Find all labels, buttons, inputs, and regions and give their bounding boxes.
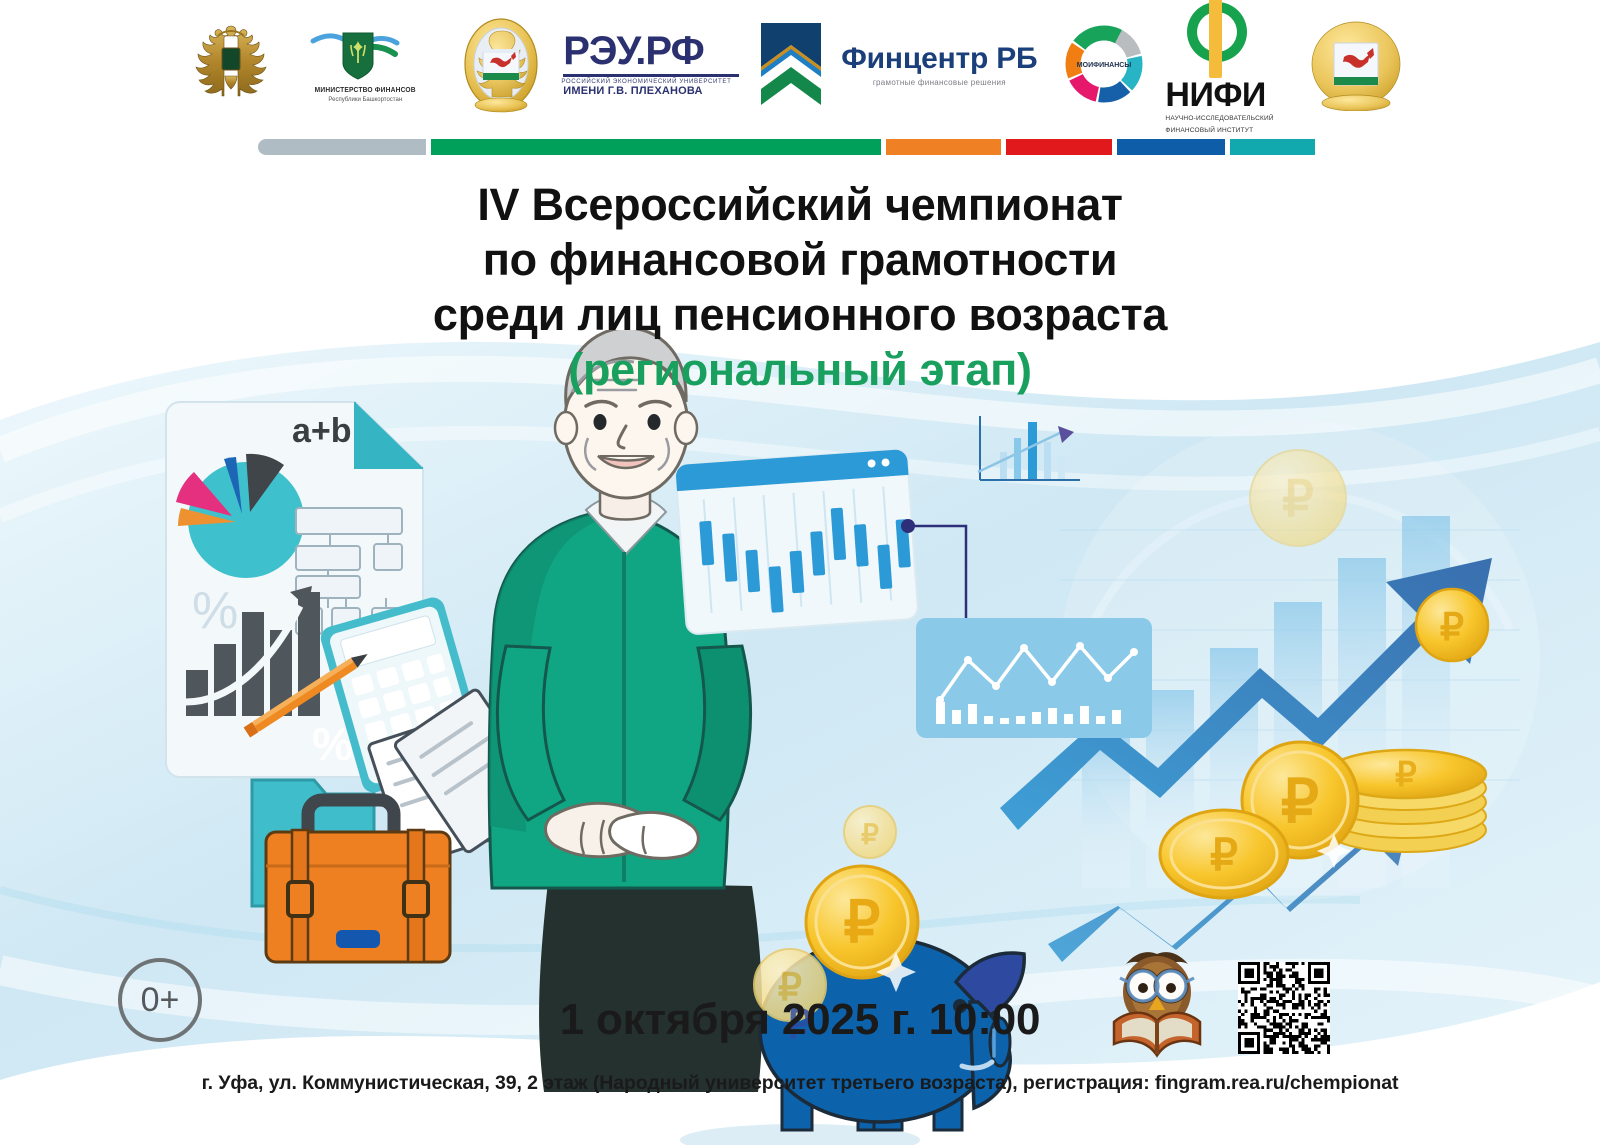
color-bar-segment-1	[431, 139, 881, 155]
coin-front-2: ₽	[1160, 810, 1288, 898]
fincentr-rb-wordmark: Финцентр РБ	[841, 42, 1037, 76]
svg-text:₽: ₽	[844, 890, 881, 955]
moifinansy-donut-icon: МОИФИНАНСЫ	[1057, 17, 1151, 111]
svg-text:₽: ₽	[1282, 471, 1314, 527]
svg-text:₽: ₽	[861, 819, 879, 850]
title-line-1: IV Всероссийский чемпионат	[0, 178, 1600, 233]
color-divider-bar	[258, 139, 1315, 155]
qr-code[interactable]	[1238, 962, 1330, 1054]
russia-coat-of-arms-icon	[192, 20, 270, 108]
logo-minfin-rb: МИНИСТЕРСТВО ФИНАНСОВ Республики Башкорт…	[290, 25, 440, 103]
minfin-caption: МИНИСТЕРСТВО ФИНАНСОВ	[315, 87, 416, 96]
event-datetime: 1 октября 2025 г. 10:00	[0, 995, 1600, 1045]
logo-bashkortostan-coat-of-arms	[440, 15, 549, 113]
color-bar-segment-4	[1117, 139, 1225, 155]
svg-text:₽: ₽	[1440, 607, 1464, 649]
logo-russia-coat-of-arms	[192, 20, 270, 108]
event-datetime-label: 1 октября 2025 г. 10:00	[560, 995, 1041, 1044]
logo-fincentr-rb: Финцентр РБ грамотные финансовые решения	[841, 42, 1037, 87]
chevron-mark-icon	[755, 15, 827, 113]
connector-node-start	[901, 519, 915, 533]
reu-rf-subtitle-2: ИМЕНИ Г.В. ПЛЕХАНОВА	[563, 85, 702, 97]
color-bar-segment-5	[1230, 139, 1315, 155]
coin-small: ₽	[844, 806, 896, 858]
nifi-subtitle-1: НАУЧНО-ИССЛЕДОВАТЕЛЬСКИЙ	[1165, 115, 1273, 124]
coin-right-mid: ₽	[1416, 589, 1488, 661]
nifi-wordmark: НИФИ	[1165, 78, 1273, 112]
svg-text:₽: ₽	[1395, 756, 1417, 794]
coin-pale-top: ₽	[1250, 450, 1346, 546]
logo-strip: МИНИСТЕРСТВО ФИНАНСОВ Республики Башкорт…	[0, 0, 1600, 128]
document-formula-label: a+b	[292, 412, 352, 450]
fincentr-rb-tagline: грамотные финансовые решения	[873, 78, 1006, 87]
percent-symbol-white: %	[312, 718, 353, 770]
color-bar-segment-2	[886, 139, 1001, 155]
title-line-2: по финансовой грамотности	[0, 233, 1600, 288]
nifi-subtitle-2: ФИНАНСОВЫЙ ИНСТИТУТ	[1165, 127, 1273, 136]
document-percent-symbol: %	[192, 582, 238, 640]
event-address: г. Уфа, ул. Коммунистическая, 39, 2 этаж…	[0, 1072, 1600, 1095]
color-bar-segment-3	[1006, 139, 1112, 155]
candlestick-chart-window	[675, 449, 918, 635]
minfin-caption-sub: Республики Башкортостан	[328, 97, 402, 103]
nifi-mark-icon	[1183, 0, 1251, 78]
logo-moifinansy: МОИФИНАНСЫ	[1037, 17, 1151, 111]
logo-chevron-mark	[739, 15, 827, 113]
owl-reading-book-icon	[1102, 940, 1212, 1058]
reu-rf-wordmark: РЭУ.РФ	[563, 31, 703, 71]
reu-rf-rule	[563, 74, 739, 77]
svg-text:₽: ₽	[1210, 831, 1238, 880]
logo-ufa-coat-of-arms	[1274, 17, 1408, 111]
svg-text:₽: ₽	[1281, 768, 1319, 835]
svg-text:МОИФИНАНСЫ: МОИФИНАНСЫ	[1077, 62, 1132, 69]
reu-rf-subtitle-1: РОССИЙСКИЙ ЭКОНОМИЧЕСКИЙ УНИВЕРСИТЕТ	[562, 79, 732, 85]
minfin-shield-icon	[307, 25, 423, 87]
color-bar-segment-0	[258, 139, 426, 155]
logo-nifi: НИФИ НАУЧНО-ИССЛЕДОВАТЕЛЬСКИЙ ФИНАНСОВЫЙ…	[1159, 0, 1273, 136]
event-address-label: г. Уфа, ул. Коммунистическая, 39, 2 этаж…	[202, 1072, 1399, 1094]
logo-reu-rf: РЭУ.РФ РОССИЙСКИЙ ЭКОНОМИЧЕСКИЙ УНИВЕРСИ…	[563, 31, 739, 97]
poster-root: МИНИСТЕРСТВО ФИНАНСОВ Республики Башкорт…	[0, 0, 1600, 1145]
bashkortostan-coat-of-arms-icon	[454, 15, 549, 113]
line-chart-panel	[916, 618, 1152, 738]
ufa-coat-of-arms-icon	[1304, 17, 1408, 111]
